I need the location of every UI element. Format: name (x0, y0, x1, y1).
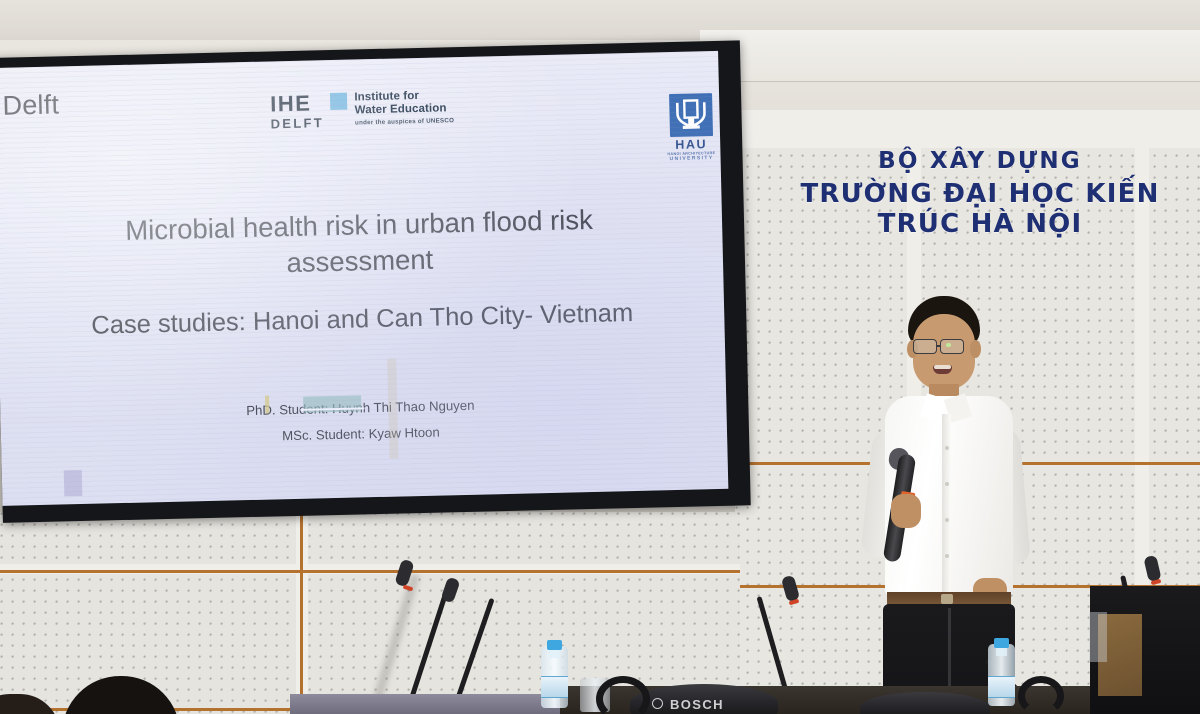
ihe-square-icon (330, 93, 347, 110)
headphones (596, 676, 650, 714)
projection-screen: U Delft IHE DELFT Institute for Water Ed… (0, 40, 751, 522)
belt-buckle (941, 594, 953, 604)
presenter-teeth (934, 365, 951, 369)
hau-acronym: HAU (667, 137, 715, 152)
bottle-neck-1 (549, 650, 560, 658)
conference-photo-scene: U Delft IHE DELFT Institute for Water Ed… (0, 0, 1200, 714)
bottle-neck-2 (996, 648, 1007, 656)
eyeglasses-lens-right (940, 339, 964, 354)
banner-line-ministry: BỘ XÂY DỰNG (770, 148, 1190, 174)
hau-badge-icon (669, 93, 713, 137)
bottle-label-2 (988, 676, 1015, 698)
front-table-left (290, 694, 570, 714)
ihe-acronym-block: IHE DELFT (270, 92, 324, 130)
ceiling-beam (700, 30, 1200, 82)
tudelft-logo: U Delft (0, 88, 59, 122)
wall-rail (300, 512, 303, 714)
banner-line-university: TRƯỜNG ĐẠI HỌC KIẾN TRÚC HÀ NỘI (770, 179, 1190, 239)
presenter-ear-right (970, 340, 981, 358)
hau-subtitle-line2: UNIVERSITY (667, 155, 715, 162)
shirt-button (945, 446, 949, 450)
presentation-slide: U Delft IHE DELFT Institute for Water Ed… (0, 51, 728, 506)
wall-rail (0, 570, 740, 573)
eyeglasses-bridge (937, 345, 941, 347)
bosch-logo-icon (652, 698, 663, 709)
eyeglasses-reflection (946, 343, 951, 347)
shirt-button (945, 518, 949, 522)
shirt-button (945, 482, 949, 486)
projection-artifact (64, 470, 83, 496)
shirt-placket (942, 414, 951, 592)
ihe-acronym: IHE (270, 92, 324, 115)
bottle-label-1 (541, 676, 568, 698)
projection-artifact (387, 359, 398, 459)
eyeglasses-lens-left (913, 339, 937, 354)
ihe-unesco-auspices: under the auspices of UNESCO (355, 118, 454, 127)
ihe-tagline-line2: Water Education (355, 102, 454, 117)
hau-logo: HAU HANOI ARCHITECTURE UNIVERSITY (666, 93, 716, 162)
shirt-button (945, 554, 949, 558)
headphones-2 (1018, 676, 1064, 714)
lectern-glass-panel (1089, 612, 1107, 662)
slide-title: Microbial health risk in urban flood ris… (51, 200, 669, 286)
screen-display-area: U Delft IHE DELFT Institute for Water Ed… (0, 51, 728, 506)
tudelft-wordmark: Delft (2, 89, 59, 121)
ihe-location: DELFT (270, 116, 324, 130)
bottle-cap-1 (547, 640, 562, 650)
slide-subtitle: Case studies: Hanoi and Can Tho City- Vi… (38, 298, 687, 342)
presenter-hand-left (891, 494, 921, 528)
presenter (845, 296, 1055, 714)
bosch-brand-label: BOSCH (670, 697, 724, 712)
text-caret-artifact (265, 396, 269, 414)
ihe-delft-logo: IHE DELFT Institute for Water Education … (270, 89, 454, 130)
bottle-cap-2 (994, 638, 1009, 648)
wall-panel-gap (735, 110, 1200, 148)
ihe-tagline-block: Institute for Water Education under the … (354, 89, 454, 127)
venue-banner: BỘ XÂY DỰNG TRƯỜNG ĐẠI HỌC KIẾN TRÚC HÀ … (770, 148, 1190, 239)
hau-emblem-icon (673, 96, 709, 134)
